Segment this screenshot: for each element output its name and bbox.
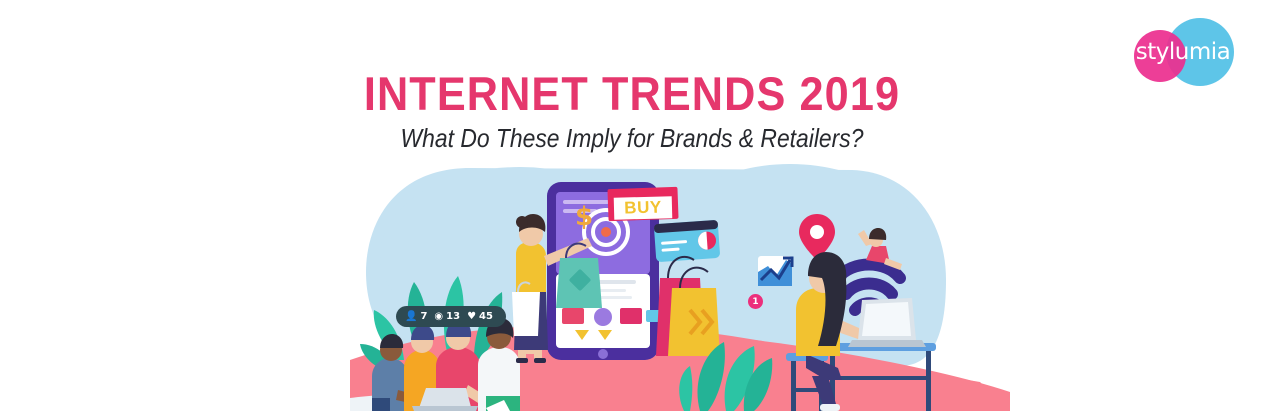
buy-button-label[interactable]: BUY	[614, 196, 673, 220]
heart-icon: ♥	[467, 312, 476, 322]
page-subtitle: What Do These Imply for Brands & Retaile…	[76, 124, 1188, 153]
social-stats-badge: 👤 7 ◉ 13 ♥ 45	[396, 306, 506, 327]
page-title: INTERNET TRENDS 2019	[51, 70, 1214, 117]
logo-wordmark: stylumia	[1128, 41, 1238, 64]
followers-count: 7	[420, 312, 427, 322]
dollar-icon: $	[575, 202, 593, 232]
comment-icon: ◉	[434, 312, 443, 322]
growth-chart-icon	[758, 256, 792, 286]
comments-count: 13	[446, 312, 460, 322]
person-icon: 👤	[405, 312, 417, 322]
likes-count: 45	[479, 312, 493, 322]
notification-badge: 1	[748, 294, 763, 309]
credit-card-icon	[654, 220, 720, 262]
internet-trends-banner: stylumia INTERNET TRENDS 2019 What Do Th…	[0, 0, 1264, 411]
